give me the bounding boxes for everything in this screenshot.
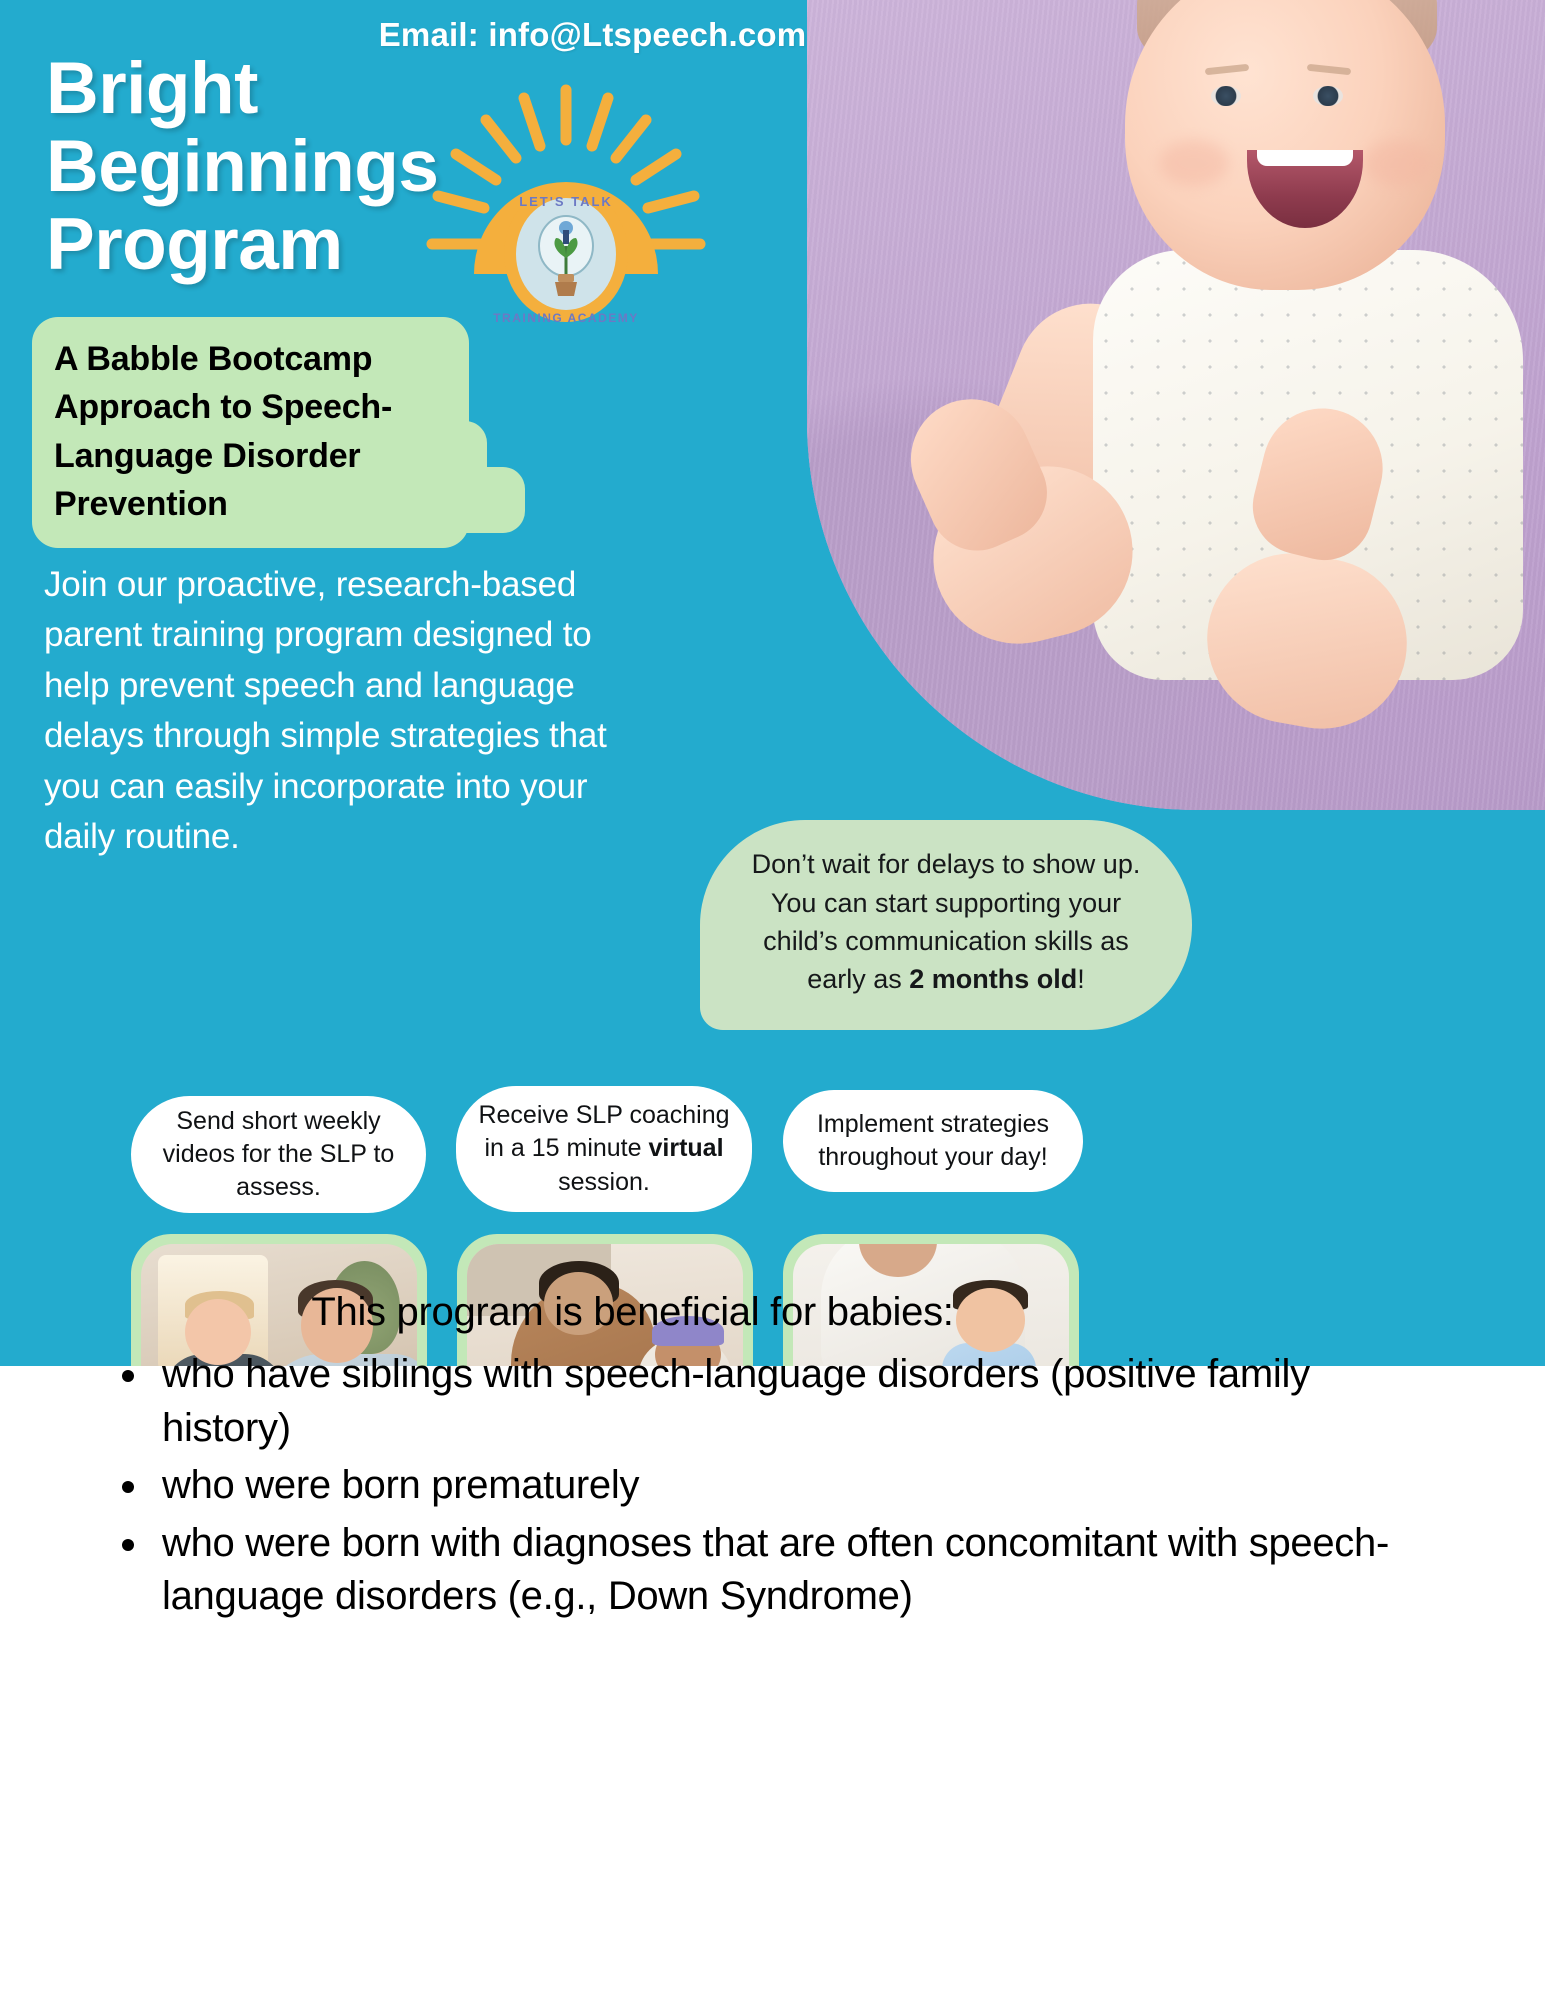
baby-cheek-left [1159, 140, 1229, 186]
step-1-text: Send short weekly videos for the SLP to … [151, 1105, 406, 1205]
subtitle-line-1: A Babble Bootcamp [54, 335, 445, 383]
baby-eye-left [1211, 86, 1241, 106]
hero-photo-smiling-baby [807, 0, 1545, 810]
baby-eye-right [1313, 86, 1343, 106]
baby-cheek-right [1363, 140, 1433, 186]
step-2-text: Receive SLP coaching in a 15 minute virt… [476, 1099, 732, 1199]
callout-text: Don’t wait for delays to show up. You ca… [736, 845, 1156, 998]
badge-tail-lower [447, 467, 525, 533]
step-slp-coaching: Receive SLP coaching in a 15 minute virt… [456, 1086, 752, 1212]
logo-top-text: LET'S TALK [519, 194, 613, 209]
step-1-text-before: Send short weekly videos for the SLP to … [163, 1107, 395, 1202]
subtitle-line-4: Prevention [54, 480, 445, 528]
intro-paragraph: Join our proactive, research-based paren… [44, 560, 664, 862]
subtitle-line-2: Approach to Speech- [54, 383, 445, 431]
flyer-page: Email: info@Ltspeech.com Bright Beginnin… [0, 0, 1545, 2000]
early-start-callout: Don’t wait for delays to show up. You ca… [700, 820, 1192, 1030]
callout-bold-age: 2 months old [909, 964, 1077, 994]
step-send-videos: Send short weekly videos for the SLP to … [131, 1096, 426, 1213]
step-implement: Implement strategies throughout your day… [783, 1090, 1083, 1192]
step-3-text-before: Implement strategies throughout your day… [817, 1110, 1049, 1171]
list-item: who have siblings with speech-language d… [152, 1348, 1428, 1455]
callout-text-after: ! [1077, 964, 1085, 994]
step-2-bold: virtual [648, 1134, 723, 1162]
step-3-text: Implement strategies throughout your day… [803, 1108, 1063, 1175]
subtitle-line-3: Language Disorder [54, 432, 445, 480]
list-item: who were born with diagnoses that are of… [152, 1517, 1428, 1624]
lets-talk-training-academy-logo: LET'S TALK TRAINING ACADEMY [416, 78, 716, 338]
benefits-heading: This program is beneficial for babies: [0, 1290, 1545, 1335]
step-2-text-after: session. [558, 1168, 650, 1196]
benefits-list: who have siblings with speech-language d… [108, 1348, 1428, 1628]
list-item: who were born prematurely [152, 1459, 1428, 1513]
subtitle-badge: A Babble Bootcamp Approach to Speech- La… [32, 317, 469, 548]
logo-bottom-text: TRAINING ACADEMY [493, 311, 639, 325]
